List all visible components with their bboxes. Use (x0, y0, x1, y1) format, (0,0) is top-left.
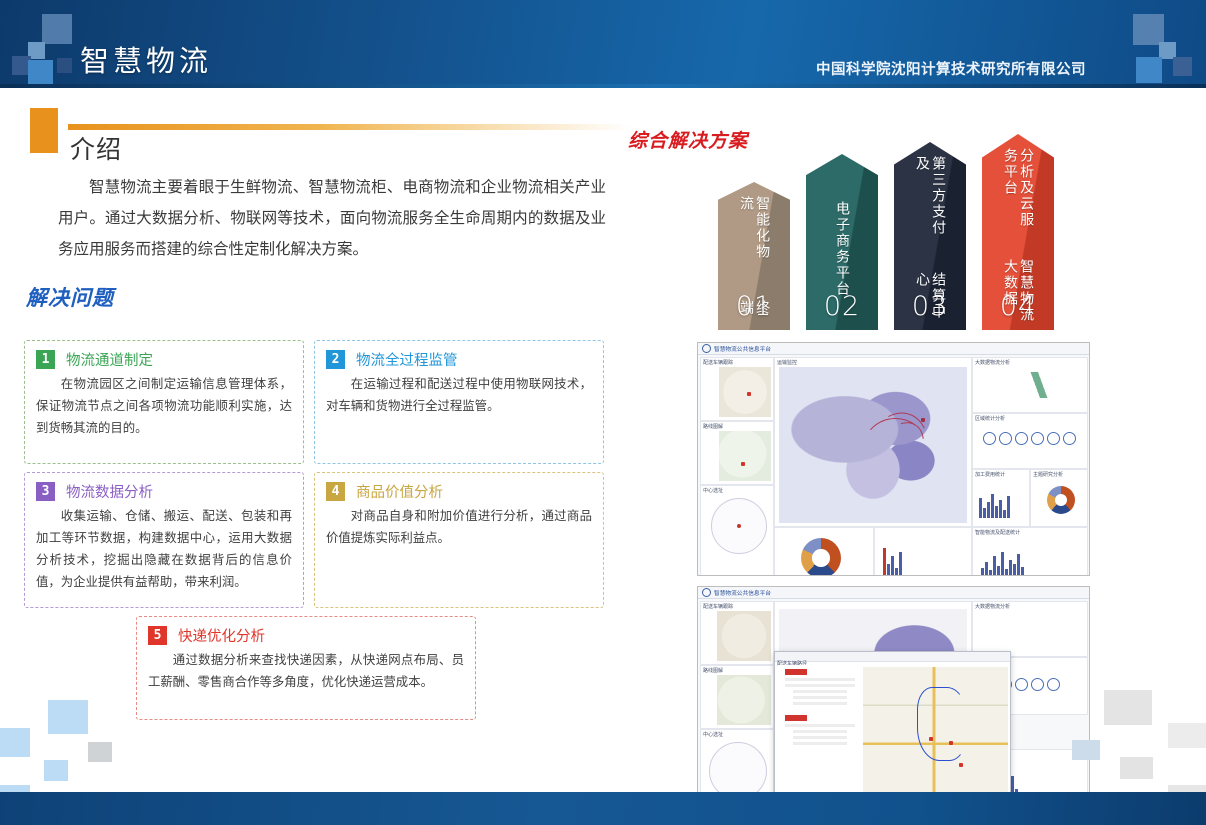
decor-square (28, 60, 53, 85)
card-body: 在物流园区之间制定运输信息管理体系，保证物流节点之间各项物流功能顺利实施，达到货… (36, 373, 292, 439)
card-body: 在运输过程和配送过程中使用物联网技术，对车辆和货物进行全过程监管。 (326, 373, 592, 417)
panel-title: 路线图解 (701, 422, 773, 431)
problem-card-5[interactable]: 5 快递优化分析 通过数据分析来查找快递因素，从快递网点布局、员工薪酬、零售商合… (136, 616, 476, 720)
solution-banner-01[interactable]: 智能化物流终端01 (718, 182, 790, 330)
panel-title: 区域统计分析 (973, 414, 1087, 423)
solution-banner-group: 智能化物流终端01电子商务平台02第三方支付及结算中心03分析及云服务平台智慧物… (718, 140, 1078, 330)
card-header: 1 物流通道制定 (36, 349, 292, 370)
panel-title: 主题研究分析 (1031, 470, 1087, 479)
dashboard-body: 配送车辆跟踪 路线图解 中心选址 大数据物流分析 (698, 599, 1089, 799)
decor-square (88, 742, 112, 762)
decor-rect (1168, 723, 1206, 748)
decor-rect (1072, 740, 1100, 760)
banner-number: 03 (894, 291, 966, 322)
card-header: 5 快递优化分析 (148, 625, 464, 646)
card-number-badge: 4 (326, 482, 345, 501)
banner-number: 01 (718, 291, 790, 322)
banner-label-primary: 智能化物流 (738, 196, 770, 270)
card-title: 物流通道制定 (66, 349, 153, 370)
card-body: 对商品自身和附加价值进行分析，通过商品价值提炼实际利益点。 (326, 505, 592, 549)
popup-route-list[interactable] (779, 665, 861, 796)
panel-title: 加工费用统计 (973, 470, 1029, 479)
page-footer (0, 792, 1206, 825)
header-divider (0, 84, 1206, 88)
solution-banner-02[interactable]: 电子商务平台02 (806, 154, 878, 330)
dashboard-screenshot-2[interactable]: 智慧物流公共信息平台 配送车辆跟踪 路线图解 中心选址 大数据物流分析 (697, 586, 1090, 799)
panel-route-map[interactable]: 路线图解 (700, 665, 774, 729)
decor-square (1136, 57, 1162, 83)
banner-number: 04 (982, 291, 1054, 322)
problem-card-2[interactable]: 2 物流全过程监管 在运输过程和配送过程中使用物联网技术，对车辆和货物进行全过程… (314, 340, 604, 464)
panel-title: 智能物流及配送统计 (973, 528, 1087, 537)
card-number-badge: 5 (148, 626, 167, 645)
panel-national-map[interactable]: 运输监控 (774, 357, 972, 527)
panel-bigdata-analysis[interactable]: 大数据物流分析 (972, 601, 1088, 657)
company-name: 中国科学院沈阳计算技术研究所有限公司 (816, 58, 1086, 79)
problem-card-4[interactable]: 4 商品价值分析 对商品自身和附加价值进行分析，通过商品价值提炼实际利益点。 (314, 472, 604, 608)
panel-center-location[interactable]: 中心选址 (700, 729, 774, 799)
panel-bar-summary[interactable] (874, 527, 972, 576)
page-title: 智慧物流 (80, 38, 212, 80)
intro-rule (68, 124, 630, 130)
card-header: 2 物流全过程监管 (326, 349, 592, 370)
panel-title: 大数据物流分析 (973, 602, 1087, 611)
card-number-badge: 2 (326, 350, 345, 369)
intro-accent-bar (30, 108, 58, 153)
panel-vehicle-tracking[interactable]: 配送车辆跟踪 (700, 601, 774, 665)
page-header: 智慧物流 中国科学院沈阳计算技术研究所有限公司 (0, 0, 1206, 88)
popup-titlebar: 配送车辆路径 (775, 652, 1010, 662)
panel-route-map[interactable]: 路线图解 (700, 421, 774, 485)
platform-logo-icon (702, 588, 711, 597)
panel-transport-monitor[interactable]: 区域统计分析 (972, 413, 1088, 469)
intro-paragraph: 智慧物流主要着眼于生鲜物流、智慧物流柜、电商物流和企业物流相关产业用户。通过大数… (58, 172, 606, 265)
decor-square (57, 58, 72, 73)
card-title: 商品价值分析 (356, 481, 443, 502)
panel-title: 中心选址 (701, 730, 773, 739)
panel-title: 中心选址 (701, 486, 773, 495)
panel-vehicle-tracking[interactable]: 配送车辆跟踪 (700, 357, 774, 421)
card-body: 收集运输、仓储、搬运、配送、包装和再加工等环节数据，构建数据中心，运用大数据分析… (36, 505, 292, 593)
popup-street-map[interactable] (863, 667, 1008, 797)
platform-logo-icon (702, 344, 711, 353)
panel-title: 运输监控 (775, 358, 971, 367)
dashboard-body: 配送车辆跟踪 路线图解 中心选址 运输监控 大数据物流分析 (698, 355, 1089, 576)
route-tag (785, 715, 807, 721)
decor-square (44, 760, 68, 781)
panel-logistics-stats[interactable]: 智能物流及配送统计 (972, 527, 1088, 576)
panel-title: 大数据物流分析 (973, 358, 1087, 367)
card-number-badge: 3 (36, 482, 55, 501)
intro-heading: 介绍 (70, 130, 122, 166)
panel-title: 配送车辆跟踪 (701, 358, 773, 367)
problem-card-3[interactable]: 3 物流数据分析 收集运输、仓储、搬运、配送、包装和再加工等环节数据，构建数据中… (24, 472, 304, 608)
decor-square (0, 728, 30, 757)
problems-section-title: 解决问题 (26, 282, 114, 312)
dashboard-screenshot-1[interactable]: 智慧物流公共信息平台 配送车辆跟踪 路线图解 中心选址 运输监控 (697, 342, 1090, 576)
panel-cost-statistics[interactable]: 加工费用统计 (972, 469, 1030, 527)
card-title: 物流全过程监管 (356, 349, 458, 370)
dashboard-title: 智慧物流公共信息平台 (714, 344, 771, 353)
card-number-badge: 1 (36, 350, 55, 369)
solution-banner-04[interactable]: 分析及云服务平台智慧物流大数据04 (982, 134, 1054, 330)
panel-theme-analysis[interactable]: 主题研究分析 (1030, 469, 1088, 527)
decor-square (42, 14, 72, 44)
route-detail-popup[interactable]: 配送车辆路径 (774, 651, 1011, 799)
panel-bigdata-analysis[interactable]: 大数据物流分析 (972, 357, 1088, 413)
decor-square (48, 700, 88, 734)
decor-rect (1120, 757, 1153, 779)
dashboard-titlebar: 智慧物流公共信息平台 (698, 587, 1089, 599)
banner-label-primary: 分析及云服务平台 (1002, 148, 1034, 229)
card-header: 3 物流数据分析 (36, 481, 292, 502)
route-tag (785, 669, 807, 675)
problem-card-1[interactable]: 1 物流通道制定 在物流园区之间制定运输信息管理体系，保证物流节点之间各项物流功… (24, 340, 304, 464)
decor-rect (1104, 690, 1152, 725)
panel-pie-summary[interactable] (774, 527, 874, 576)
panel-center-location[interactable]: 中心选址 (700, 485, 774, 576)
banner-number: 02 (806, 291, 878, 322)
dashboard-titlebar: 智慧物流公共信息平台 (698, 343, 1089, 355)
card-title: 快递优化分析 (178, 625, 265, 646)
solution-banner-03[interactable]: 第三方支付及结算中心03 (894, 142, 966, 330)
card-title: 物流数据分析 (66, 481, 153, 502)
banner-label-primary: 第三方支付及 (914, 156, 946, 242)
banner-label-primary: 电子商务平台 (834, 201, 850, 297)
card-body: 通过数据分析来查找快递因素，从快递网点布局、员工薪酬、零售商合作等多角度，优化快… (148, 649, 464, 693)
panel-title: 路线图解 (701, 666, 773, 675)
decor-square (1133, 14, 1164, 45)
card-header: 4 商品价值分析 (326, 481, 592, 502)
dashboard-title: 智慧物流公共信息平台 (714, 588, 771, 597)
panel-title: 配送车辆跟踪 (701, 602, 773, 611)
decor-square (1173, 57, 1192, 76)
